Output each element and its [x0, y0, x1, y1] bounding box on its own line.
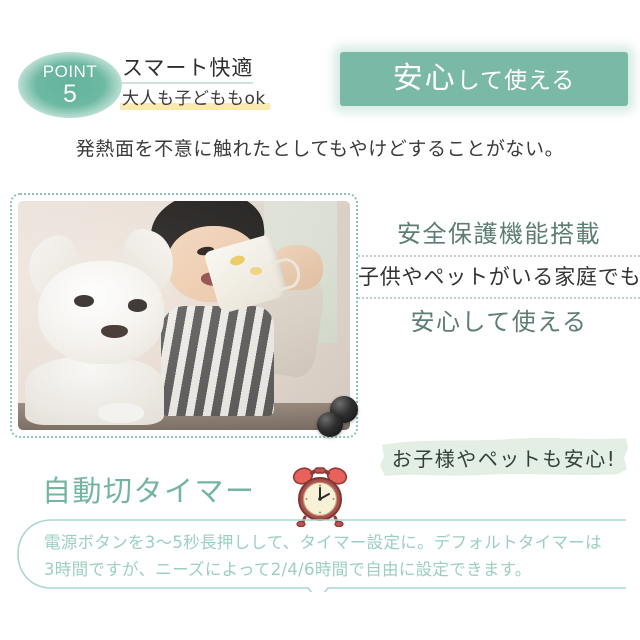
feature-line-2: 子供やペットがいる家庭でも — [358, 257, 640, 297]
product-sphere-lower — [317, 412, 343, 437]
brush-badge-text: お子様やペットも安心! — [378, 436, 630, 478]
advertisement-page: POINT 5 スマート快適 大人も子どももok 安心して使える 発熱面を不意に… — [0, 0, 640, 640]
timer-title: 自動切タイマー — [42, 477, 256, 506]
photo-frame — [10, 193, 358, 438]
brush-badge: お子様やペットも安心! — [378, 436, 630, 478]
kicker-block: スマート快適 大人も子どももok — [122, 55, 332, 110]
timer-description-bubble: 電源ボタンを3〜5秒長押しして、タイマー設定に。デフォルトタイマーは 3時間です… — [14, 518, 626, 592]
headline-banner: 安心して使える — [340, 52, 628, 106]
timer-description-line-2: 3時間ですが、ニーズによって2/4/6時間で自由に設定できます。 — [44, 557, 616, 584]
kicker-main-text: スマート快適 — [122, 55, 253, 84]
point-label: POINT — [43, 63, 97, 80]
point-badge: POINT 5 — [18, 52, 122, 118]
kicker-sub-wrap: 大人も子どももok — [122, 89, 266, 109]
headline-banner-emphasis: 安心 — [393, 61, 457, 96]
headline-banner-suffix: して使える — [457, 68, 576, 94]
photo-soft-overlay — [18, 201, 350, 430]
feature-line-3: 安心して使える — [358, 299, 640, 334]
kicker-sub-text: 大人も子どももok — [122, 89, 266, 109]
feature-text-column: 安全保護機能搭載 子供やペットがいる家庭でも 安心して使える — [358, 222, 640, 334]
timer-description-text: 電源ボタンを3〜5秒長押しして、タイマー設定に。デフォルトタイマーは 3時間です… — [44, 530, 616, 583]
lifestyle-photo — [18, 201, 350, 430]
lead-sentence: 発熱面を不意に触れたとしてもやけどすることがない。 — [0, 134, 640, 161]
point-number: 5 — [63, 82, 77, 107]
timer-description-line-1: 電源ボタンを3〜5秒長押しして、タイマー設定に。デフォルトタイマーは — [44, 530, 616, 557]
feature-line-1: 安全保護機能搭載 — [358, 222, 640, 255]
headline-banner-text: 安心して使える — [393, 64, 576, 94]
